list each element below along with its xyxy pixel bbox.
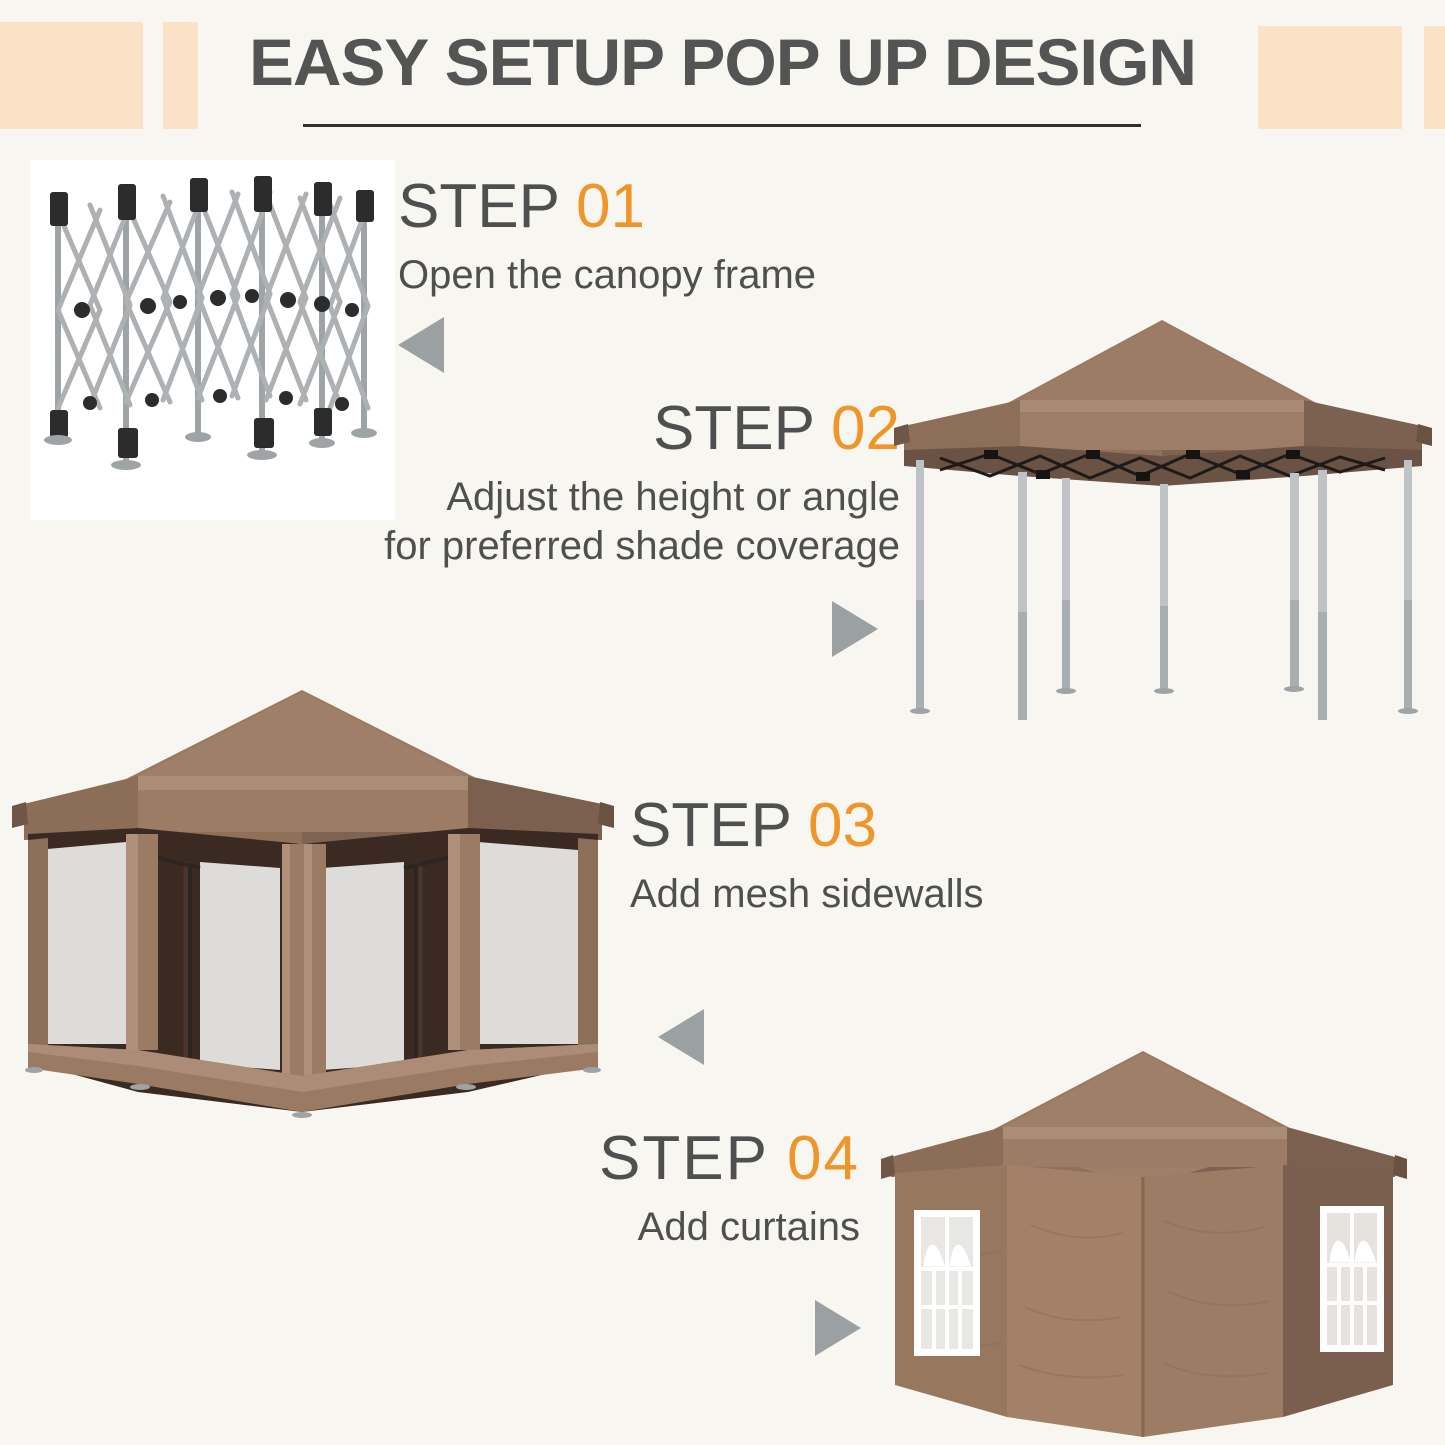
step-4-number: 04 bbox=[787, 1124, 860, 1193]
page-canvas: EASY SETUP POP UP DESIGN bbox=[0, 0, 1445, 1445]
step-2-description-line-1: Adjust the height or angle bbox=[352, 474, 900, 521]
step-4-heading: STEP 04 bbox=[560, 1128, 860, 1190]
step-3-number: 03 bbox=[808, 791, 877, 860]
step-1-label: STEP bbox=[398, 172, 559, 241]
step-1-heading: STEP 01 bbox=[398, 176, 816, 238]
step-2-text: STEP 02 Adjust the height or angle for p… bbox=[352, 398, 900, 570]
step-4-image-curtains-gazebo bbox=[855, 1045, 1445, 1445]
step-1-number: 01 bbox=[576, 172, 645, 241]
step-3-description: Add mesh sidewalls bbox=[630, 871, 984, 918]
arrow-right-icon-2 bbox=[832, 601, 878, 657]
step-4-description: Add curtains bbox=[560, 1204, 860, 1251]
step-3-label: STEP bbox=[630, 791, 791, 860]
step-2-description-line-2: for preferred shade coverage bbox=[352, 523, 900, 570]
title-divider bbox=[303, 124, 1141, 127]
arrow-left-icon-3 bbox=[658, 1009, 704, 1065]
step-1-description: Open the canopy frame bbox=[398, 252, 816, 299]
step-2-label: STEP bbox=[653, 394, 814, 463]
step-4-label: STEP bbox=[599, 1124, 768, 1193]
step-3-text: STEP 03 Add mesh sidewalls bbox=[630, 795, 984, 918]
page-title: EASY SETUP POP UP DESIGN bbox=[0, 24, 1445, 100]
step-1-image-folded-frame bbox=[30, 160, 395, 520]
step-3-heading: STEP 03 bbox=[630, 795, 984, 857]
arrow-left-icon-1 bbox=[398, 317, 444, 373]
step-2-image-open-gazebo bbox=[880, 300, 1445, 720]
step-4-text: STEP 04 Add curtains bbox=[560, 1128, 860, 1251]
step-2-heading: STEP 02 bbox=[352, 398, 900, 460]
step-3-image-mesh-sidewalls-gazebo bbox=[0, 672, 625, 1137]
step-1-text: STEP 01 Open the canopy frame bbox=[398, 176, 816, 299]
